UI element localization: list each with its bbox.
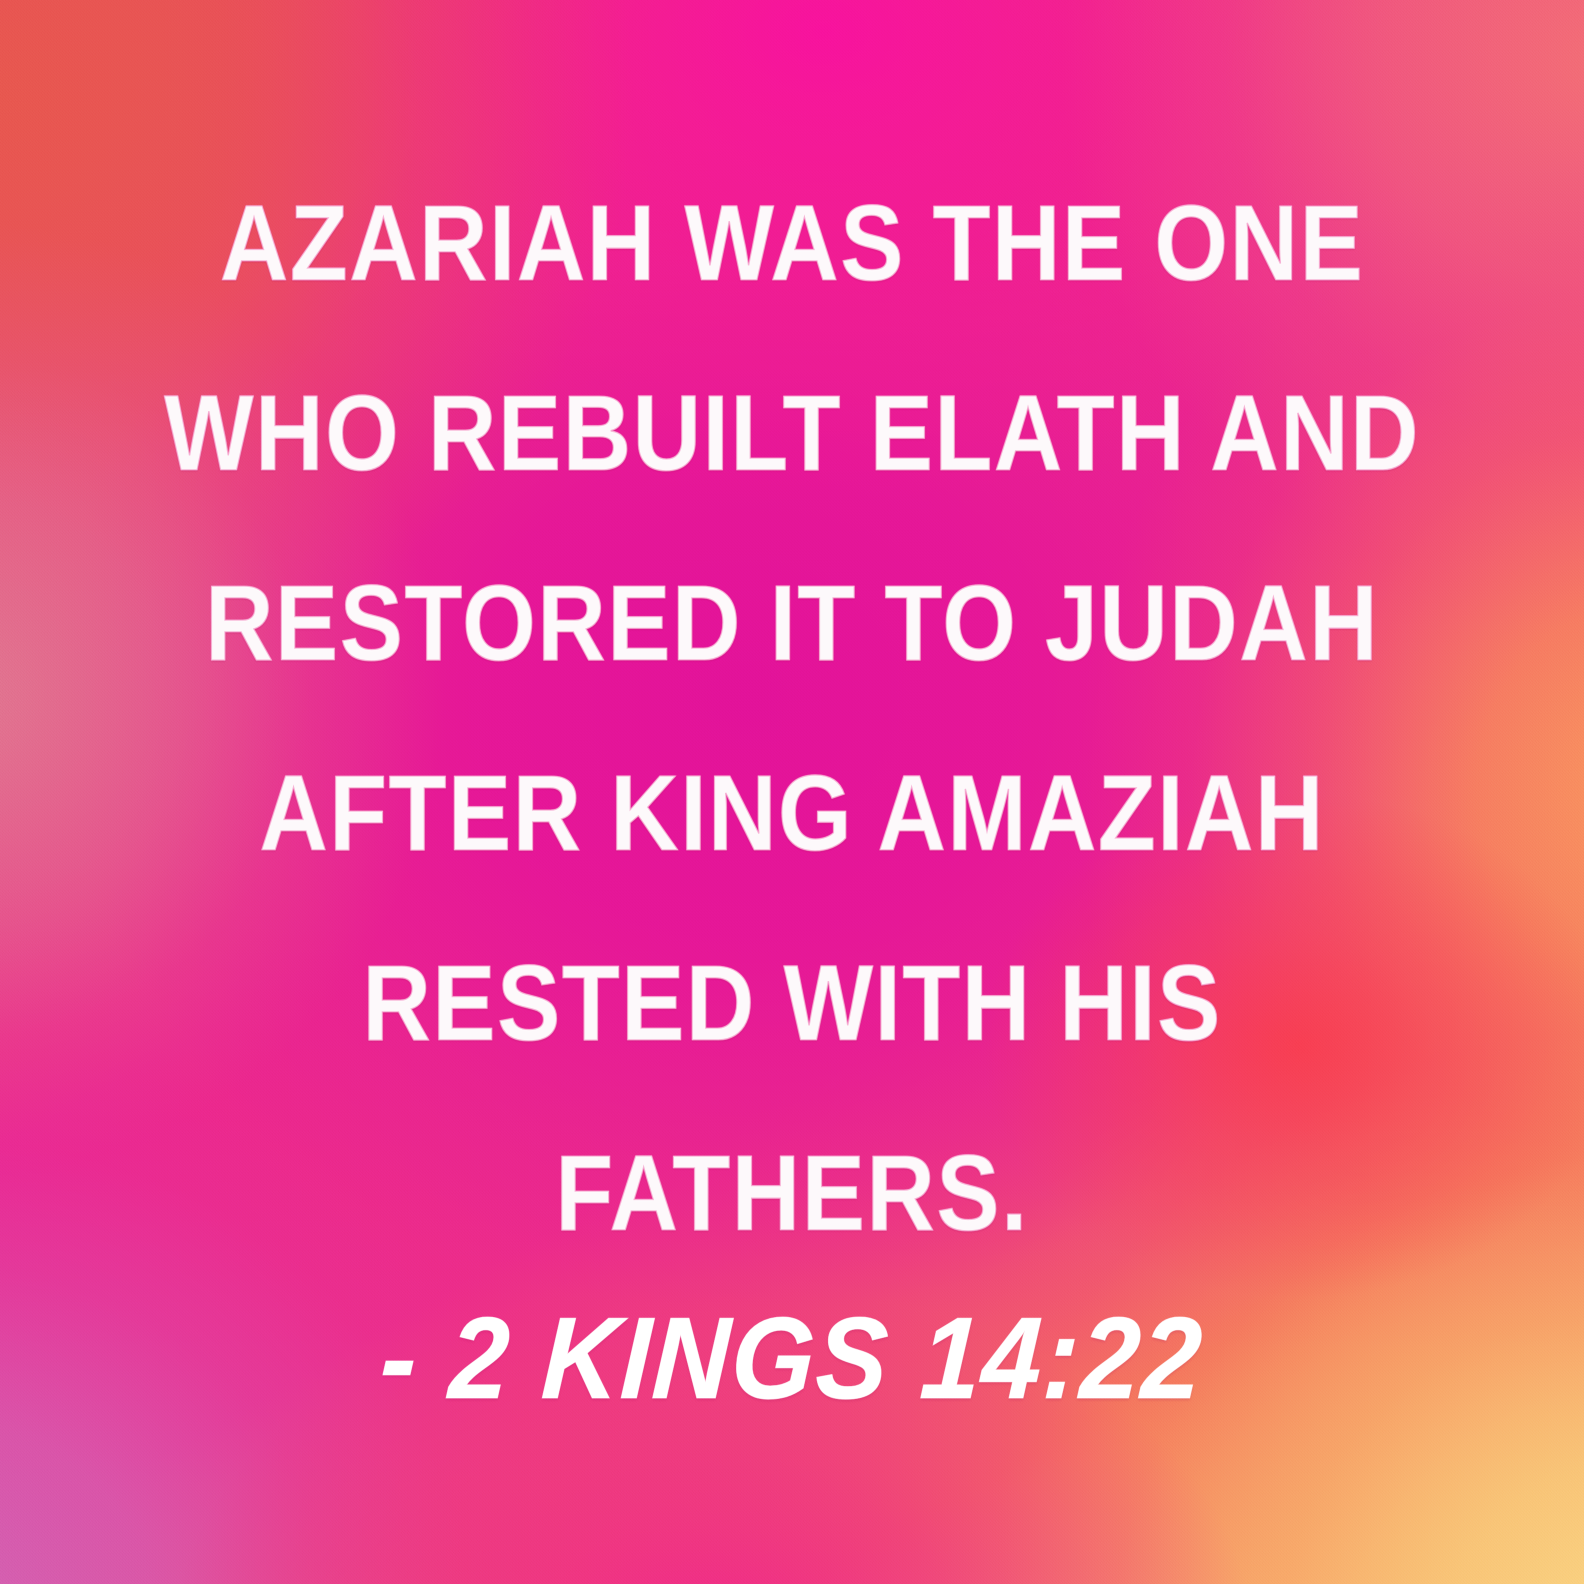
verse-line-5: RESTED WITH HIS (95, 908, 1489, 1098)
verse-line-2: WHO REBUILT ELATH AND (95, 338, 1489, 528)
verse-line-4: AFTER KING AMAZIAH (95, 718, 1489, 908)
verse-line-6: FATHERS. (95, 1098, 1489, 1288)
verse-image-canvas: AZARIAH WAS THE ONE WHO REBUILT ELATH AN… (0, 0, 1584, 1584)
verse-text-block: AZARIAH WAS THE ONE WHO REBUILT ELATH AN… (0, 148, 1584, 1288)
citation-reference-text: - 2 KINGS 14:22 (378, 1292, 1207, 1424)
verse-line-1: AZARIAH WAS THE ONE (95, 148, 1489, 338)
verse-line-3: RESTORED IT TO JUDAH (95, 528, 1489, 718)
verse-citation: - 2 KINGS 14:22 (0, 1292, 1584, 1424)
